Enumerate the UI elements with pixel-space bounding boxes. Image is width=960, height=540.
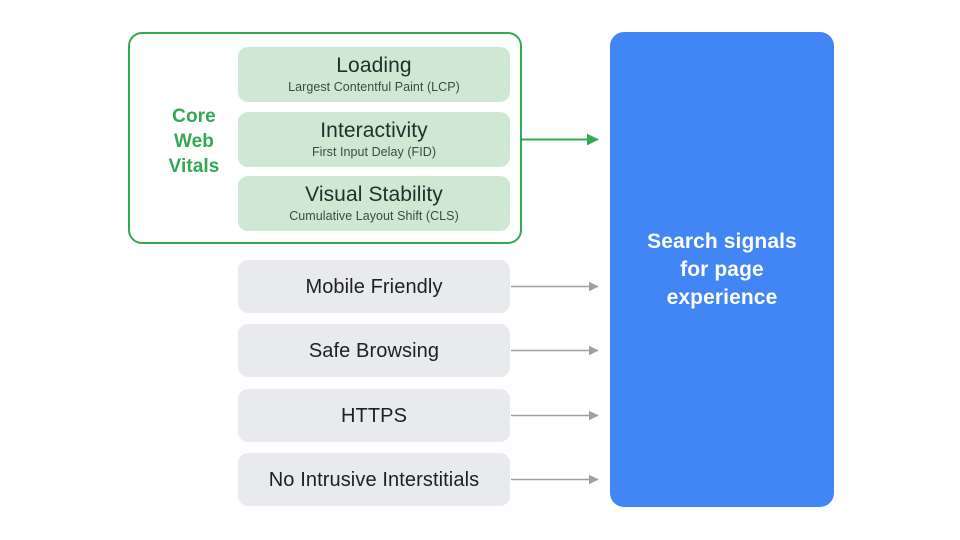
signal-box-mobile-friendly[interactable]: Mobile Friendly xyxy=(238,260,510,313)
signal-box-label: No Intrusive Interstitials xyxy=(269,468,479,492)
vital-card-loading[interactable]: Loading Largest Contentful Paint (LCP) xyxy=(238,47,510,102)
core-web-vitals-label-line-1: Core xyxy=(155,104,233,129)
signal-box-label: Mobile Friendly xyxy=(305,275,442,299)
vital-card-title: Loading xyxy=(336,53,411,78)
vital-card-subtitle: Cumulative Layout Shift (CLS) xyxy=(289,208,459,225)
core-web-vitals-group-label: Core Web Vitals xyxy=(155,104,233,179)
signal-box-safe-browsing[interactable]: Safe Browsing xyxy=(238,324,510,377)
diagram-canvas: Core Web Vitals Loading Largest Contentf… xyxy=(0,0,960,540)
vital-card-title: Visual Stability xyxy=(305,182,443,207)
signal-box-no-intrusive-interstitials[interactable]: No Intrusive Interstitials xyxy=(238,453,510,506)
core-web-vitals-label-line-3: Vitals xyxy=(155,154,233,179)
vital-card-title: Interactivity xyxy=(320,118,428,143)
signal-box-label: HTTPS xyxy=(341,404,407,428)
core-web-vitals-label-line-2: Web xyxy=(155,129,233,154)
signal-box-label: Safe Browsing xyxy=(309,339,439,363)
vital-card-visual-stability[interactable]: Visual Stability Cumulative Layout Shift… xyxy=(238,176,510,231)
signal-box-https[interactable]: HTTPS xyxy=(238,389,510,442)
search-signals-panel-label: Search signals for page experience xyxy=(647,228,797,312)
vital-card-subtitle: Largest Contentful Paint (LCP) xyxy=(288,79,460,96)
vital-card-interactivity[interactable]: Interactivity First Input Delay (FID) xyxy=(238,112,510,167)
search-signals-panel[interactable]: Search signals for page experience xyxy=(610,32,834,507)
vital-card-subtitle: First Input Delay (FID) xyxy=(312,144,436,161)
